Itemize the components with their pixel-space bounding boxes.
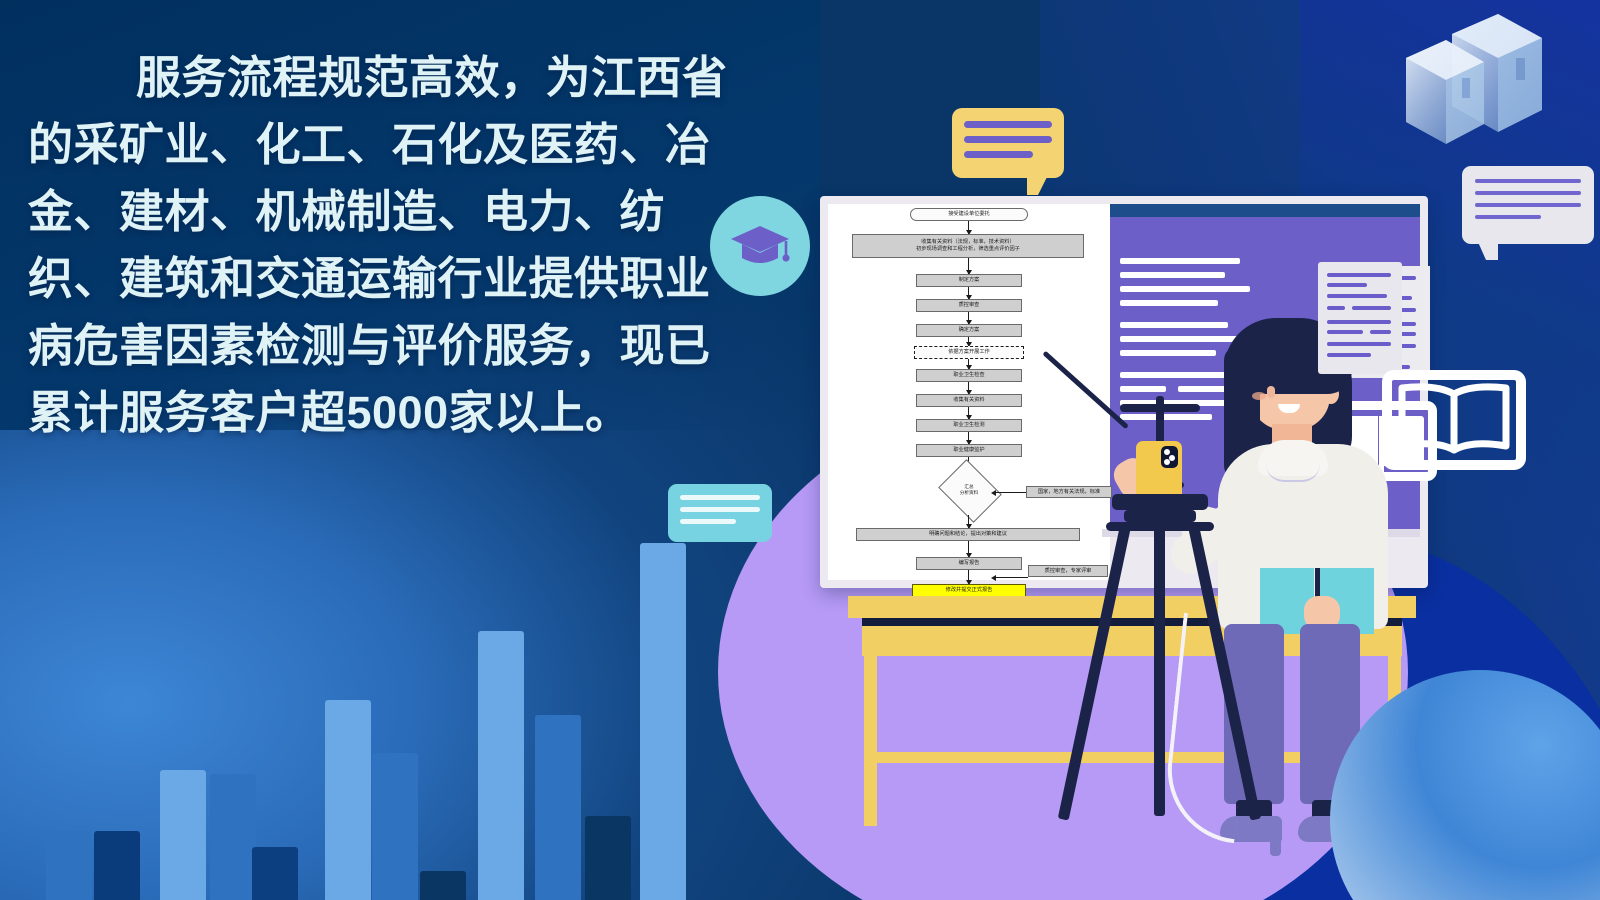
tripod-top-arm [1120, 404, 1200, 412]
flow-node-n1: 接受建设单位委托 [910, 208, 1028, 221]
desk-leg-left [864, 656, 877, 826]
board-text-line-7 [1120, 336, 1242, 342]
flow-node-n9: 职业卫生检测 [916, 419, 1022, 432]
teal-info-card [668, 484, 772, 542]
books-3d-icon [1380, 6, 1580, 176]
headline-line-2: 的采矿业、化工、石化及医药、冶 [28, 111, 773, 178]
board-text-line-13 [1120, 414, 1212, 420]
decorative-bar-chart [0, 480, 800, 900]
headline-line-4: 织、建筑和交通运输行业提供职业 [28, 245, 773, 312]
flow-node-n6: 依据方案开展工作 [914, 346, 1024, 359]
headline-line-3: 金、建材、机械制造、电力、纺 [28, 178, 773, 245]
poster-canvas: 接受建设单位委托 收集有关资料（法规，标准，技术资料） 初步现场调查和工程分析，… [0, 0, 1600, 900]
tripod-leg-center [1154, 526, 1165, 816]
board-text-line-1 [1120, 258, 1240, 264]
flow-node-n12: 明确问题和结论，提出对策和建议 [856, 528, 1080, 541]
white-speech-bubble [1462, 166, 1594, 244]
flow-node-n10: 职业健康监护 [916, 444, 1022, 457]
yellow-speech-bubble [952, 108, 1064, 178]
headline-line-1: 服务流程规范高效，为江西省 [28, 44, 773, 111]
flow-node-n13: 编写报告 [916, 557, 1022, 570]
flow-side-node-s2: 质控审查，专家评审 [1028, 565, 1108, 577]
bar-b1 [46, 831, 92, 900]
white-bubble-tail [1478, 242, 1498, 260]
bar-b5 [252, 847, 298, 900]
bar-b12 [640, 543, 686, 900]
flow-node-n5: 确定方案 [916, 324, 1022, 337]
flow-node-n8: 收集有关资料 [916, 394, 1022, 407]
book-3d-small [1406, 40, 1484, 144]
bar-b6 [325, 700, 371, 900]
tripod-head [1112, 494, 1208, 510]
bar-b10 [535, 715, 581, 900]
phone-camera-icon [1161, 446, 1178, 468]
headline-line-5: 病危害因素检测与评价服务，现已 [28, 312, 773, 379]
bar-b3 [160, 770, 206, 900]
yellow-bubble-tail [1027, 175, 1048, 195]
open-book-outline-icon [1382, 370, 1526, 470]
bar-b4 [210, 774, 256, 900]
bar-b9 [478, 631, 524, 900]
flow-node-n3: 制定方案 [916, 274, 1022, 287]
board-text-line-8 [1120, 350, 1216, 356]
board-text-line-3 [1120, 286, 1250, 292]
board-text-line-2 [1120, 272, 1225, 278]
board-text-line-9 [1120, 372, 1238, 378]
flow-node-n2: 收集有关资料（法规，标准，技术资料） 初步现场调查和工程分析，筛选重点评价因子 [852, 234, 1084, 258]
bar-b7 [372, 753, 418, 900]
presenter-eye-right [1298, 381, 1307, 392]
bar-b11 [585, 816, 631, 900]
board-text-line-4 [1120, 300, 1218, 306]
presenter-nose [1267, 386, 1275, 398]
board-text-line-10 [1120, 386, 1166, 392]
flowchart: 接受建设单位委托 收集有关资料（法规，标准，技术资料） 初步现场调查和工程分析，… [830, 208, 1108, 576]
headline-copy: 服务流程规范高效，为江西省 的采矿业、化工、石化及医药、冶 金、建材、机械制造、… [28, 44, 773, 446]
board-text-line-6 [1172, 322, 1224, 328]
flow-node-n11: 汇总 分析资料 [939, 484, 999, 496]
flow-node-n7: 职业卫生检查 [916, 369, 1022, 382]
flow-node-n4: 质控审查 [916, 299, 1022, 312]
presenter-brow-right [1294, 370, 1310, 374]
bar-b2 [94, 831, 140, 900]
purple-board-top-rail [1110, 204, 1420, 217]
headline-line-6: 累计服务客户超5000家以上。 [28, 379, 773, 446]
bar-b8 [420, 871, 466, 900]
flow-side-node-s1: 国家，地方有关法规，标准 [1026, 486, 1112, 498]
presenter-brow-left [1262, 372, 1278, 376]
tripod-collar [1124, 510, 1196, 522]
presenter-blush [1252, 392, 1266, 400]
floating-paper-card [1318, 262, 1402, 374]
